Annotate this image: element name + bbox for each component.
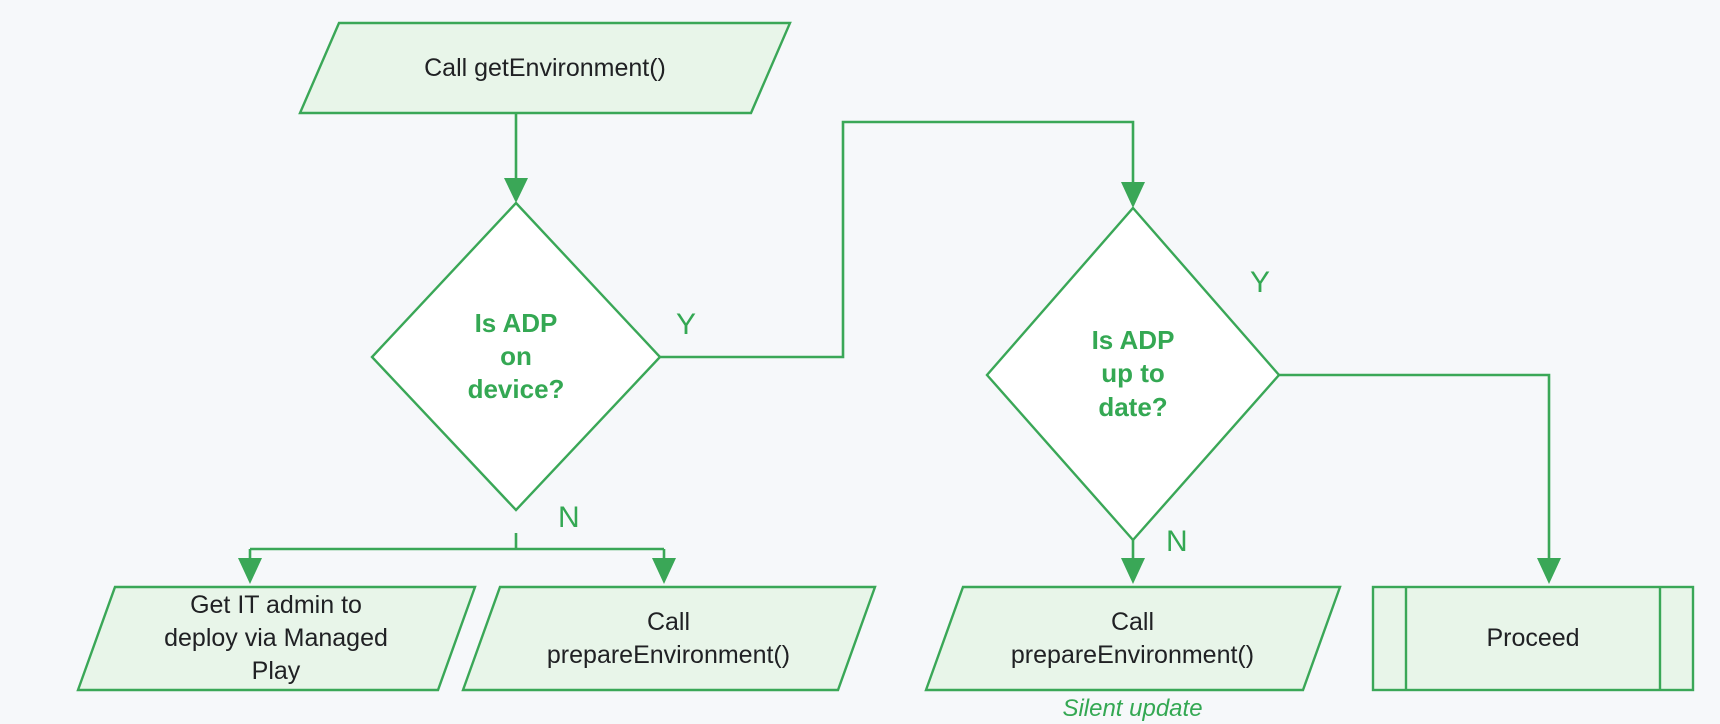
node-is-adp-on-device[interactable] — [372, 203, 660, 510]
edge-label-on-device-yes: Y — [676, 310, 696, 340]
node-get-it-admin-deploy[interactable] — [78, 587, 475, 690]
node-proceed[interactable] — [1373, 587, 1693, 690]
note-silent-update: Silent update — [944, 697, 1321, 721]
edge-on-device-no-split — [238, 533, 676, 584]
node-call-prepare-environment-right[interactable] — [926, 587, 1340, 690]
node-call-prepare-environment-left[interactable] — [463, 587, 875, 690]
edge-start-to-on-device — [504, 113, 528, 203]
flowchart-canvas: Call getEnvironment() Is ADP on device? … — [0, 0, 1720, 724]
edge-label-up-to-date-no: N — [1166, 527, 1188, 557]
node-call-get-environment[interactable] — [300, 23, 790, 113]
edge-label-up-to-date-yes: Y — [1250, 268, 1270, 298]
edge-up-to-date-yes-to-proceed — [1279, 375, 1561, 584]
edge-label-on-device-no: N — [558, 503, 580, 533]
node-is-adp-up-to-date[interactable] — [987, 208, 1279, 540]
flowchart-svg — [0, 0, 1720, 724]
